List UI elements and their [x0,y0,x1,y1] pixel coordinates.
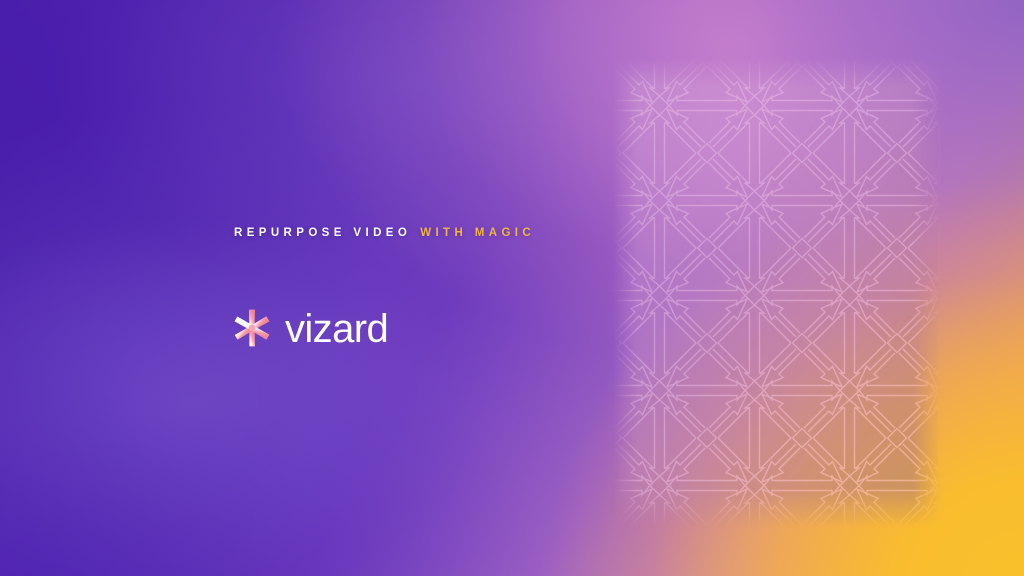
tagline: REPURPOSE VIDEOWITH MAGIC [234,228,752,240]
brand-wordmark: vizard [285,309,388,349]
tagline-primary: REPURPOSE VIDEO [234,227,411,239]
brand-content-block: REPURPOSE VIDEOWITH MAGIC [232,228,752,349]
vizard-asterisk-icon [232,308,272,348]
brand-splash-card: REPURPOSE VIDEOWITH MAGIC [0,0,1024,576]
tagline-accent: WITH MAGIC [420,227,535,239]
logo-lockup: vizard [232,308,752,349]
